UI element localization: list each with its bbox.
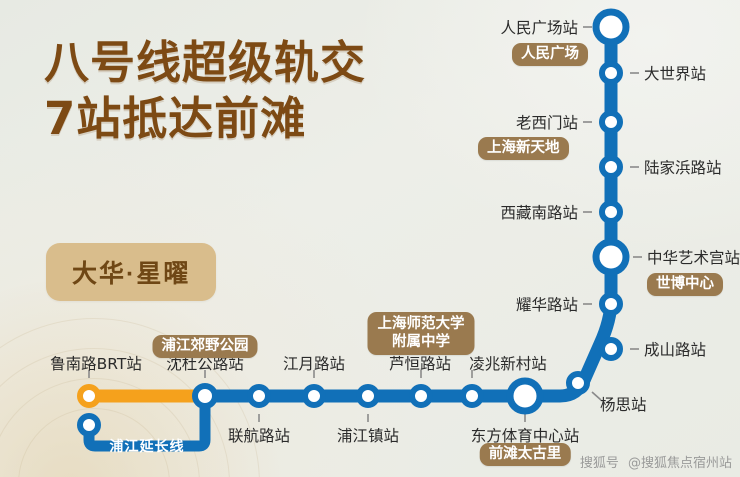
watermark-main: @搜狐焦点宿州站 — [628, 456, 732, 471]
station-dot-laoximen[interactable] — [602, 113, 620, 131]
station-dot-dashijie[interactable] — [602, 64, 620, 82]
station-label-yangsi: 杨思站 — [600, 393, 647, 415]
station-dot-zhonghua-yishugong[interactable] — [596, 242, 626, 272]
station-dot-yangsi[interactable] — [569, 374, 587, 392]
station-label-yaohua-lu: 耀华路站 — [516, 293, 578, 315]
poi-badge-zhonghua-yishugong: 世博中心 — [647, 273, 723, 296]
station-dot-lujiabang-lu[interactable] — [602, 158, 620, 176]
station-label-lianhang-lu: 联航路站 — [228, 424, 290, 446]
station-dot-yaohua-lu[interactable] — [602, 295, 620, 313]
poi-badge-luheng-lu-line-1: 上海师范大学 — [378, 315, 465, 333]
station-label-zhonghua-yishugong: 中华艺术宫站 — [647, 246, 740, 268]
station-label-renmin-guangchang: 人民广场站 — [500, 16, 578, 38]
station-dot-renmin-guangchang[interactable] — [596, 12, 626, 42]
watermark: 搜狐号 @搜狐焦点宿州站 — [580, 452, 732, 471]
poi-badge-dongfang-tiyu: 前滩太古里 — [480, 443, 571, 466]
station-dot-dongfang-tiyu[interactable] — [510, 381, 540, 411]
watermark-prefix: 搜狐号 — [580, 456, 619, 471]
station-dot-jiangyue-lu[interactable] — [305, 387, 323, 405]
metro-line-poster: 八号线超级轨交 7站抵达前滩 大华·星曜 — [0, 0, 740, 477]
poi-badge-luheng-lu-line-2: 附属中学 — [378, 333, 465, 351]
station-label-laoximen: 老西门站 — [516, 111, 578, 133]
station-label-dashijie: 大世界站 — [644, 62, 706, 84]
branch-line-label: 浦江延长线 — [110, 436, 185, 456]
station-dot-shendu-gonglu[interactable] — [195, 386, 215, 406]
station-dot-lunan-lu-brt[interactable] — [80, 387, 98, 405]
station-dot-lingzhao-xincun[interactable] — [463, 387, 481, 405]
station-label-xizang-nan-lu: 西藏南路站 — [500, 201, 578, 223]
poi-badge-renmin-guangchang: 人民广场 — [512, 43, 588, 66]
station-label-jiangyue-lu: 江月路站 — [283, 352, 345, 374]
station-dot-xizang-nan-lu[interactable] — [602, 203, 620, 221]
poi-badge-shendu-gonglu: 浦江郊野公园 — [153, 335, 258, 358]
poi-badge-luheng-lu: 上海师范大学 附属中学 — [368, 312, 475, 355]
station-dot-pujiang-zhen[interactable] — [359, 387, 377, 405]
station-label-luheng-lu: 芦恒路站 — [389, 352, 451, 374]
station-label-pujiang-zhen: 浦江镇站 — [337, 424, 399, 446]
station-dot-chengshan-lu[interactable] — [602, 340, 620, 358]
station-dot-luheng-lu[interactable] — [412, 387, 430, 405]
station-dot-lianhang-lu[interactable] — [250, 387, 268, 405]
station-label-lingzhao-xincun: 凌兆新村站 — [469, 352, 547, 374]
poi-badge-laoximen: 上海新天地 — [478, 137, 569, 160]
station-label-lunan-lu-brt: 鲁南路BRT站 — [50, 352, 142, 374]
station-dot-pujiang-branch-end[interactable] — [80, 416, 98, 434]
station-label-chengshan-lu: 成山路站 — [644, 338, 706, 360]
station-label-lujiabang-lu: 陆家浜路站 — [644, 156, 722, 178]
